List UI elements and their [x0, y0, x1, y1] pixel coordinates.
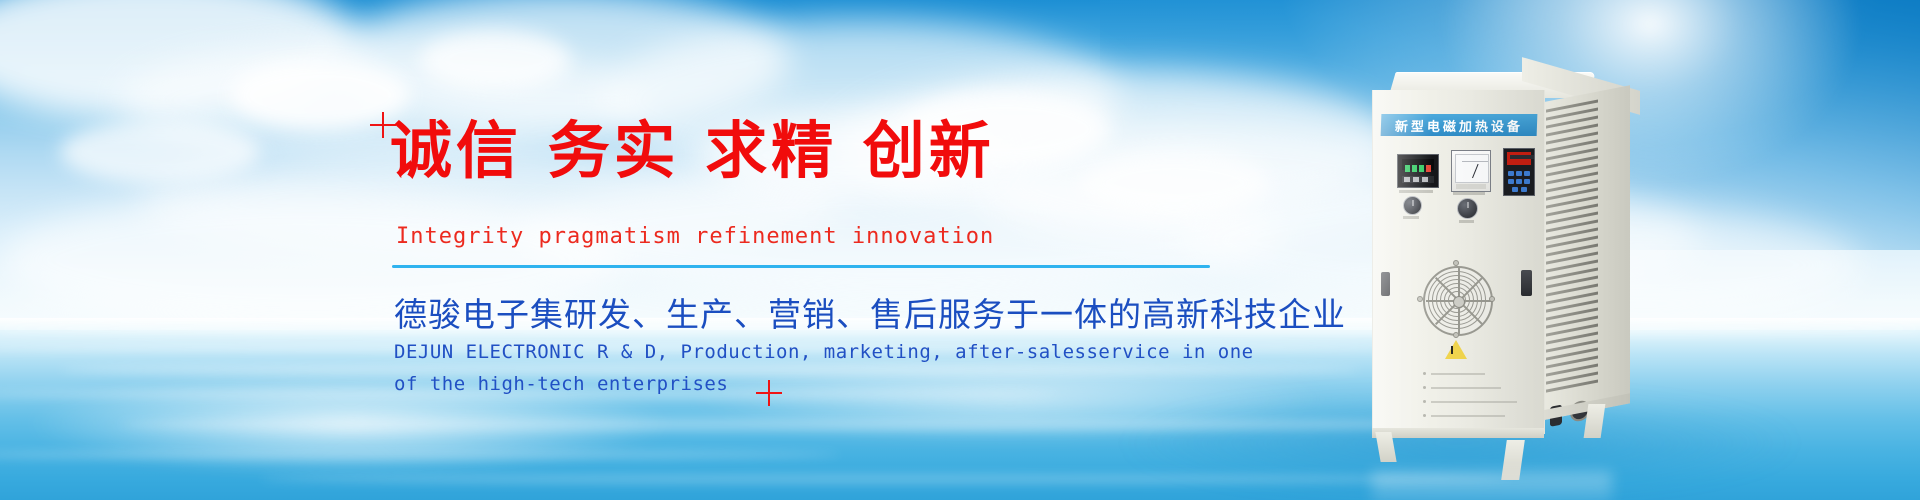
controller-button-row[interactable] [1402, 176, 1434, 183]
gauge-label-plate [1456, 184, 1486, 189]
product-machine: 新型电磁加热设备 [1372, 72, 1652, 472]
control-knob[interactable] [1403, 196, 1422, 215]
digital-temperature-controller[interactable] [1397, 154, 1439, 188]
gauge-face [1455, 154, 1489, 183]
cloud-puff [1080, 150, 1270, 216]
cooling-fan-grille [1423, 266, 1493, 336]
gauge-needle [1472, 164, 1479, 178]
description-english: DEJUN ELECTRONIC R & D, Production, mark… [394, 336, 1254, 400]
promotional-banner: 诚信 务实 求精 创新 Integrity pragmatism refinem… [0, 0, 1920, 500]
machine-base [1372, 428, 1544, 438]
machine-leg [1584, 404, 1606, 438]
controller-display [1402, 159, 1434, 170]
headline-chinese: 诚信 务实 求精 创新 [390, 120, 995, 182]
warning-triangle-icon [1445, 340, 1467, 359]
keypad-screen [1507, 152, 1531, 165]
keypad-display-panel[interactable] [1503, 148, 1535, 196]
product-badge-label: 新型电磁加热设备 [1395, 116, 1524, 135]
machine-reflection [1372, 472, 1612, 500]
machine-latch[interactable] [1521, 270, 1532, 296]
machine-front-panel: 新型电磁加热设备 [1372, 90, 1545, 434]
description-english-line-1: DEJUN ELECTRONIC R & D, Production, mark… [394, 336, 1254, 368]
headline-english: Integrity pragmatism refinement innovati… [396, 224, 994, 249]
control-knob[interactable] [1457, 198, 1478, 219]
description-chinese: 德骏电子集研发、生产、营销、售后服务于一体的高新科技企业 [394, 288, 1346, 336]
description-english-line-2: of the high-tech enterprises [394, 368, 1254, 400]
banner-copy: 诚信 务实 求精 创新 Integrity pragmatism refinem… [0, 0, 1100, 500]
divider-line [392, 265, 1210, 268]
machine-vent-group [1546, 97, 1600, 403]
machine-latch[interactable] [1381, 272, 1390, 296]
machine-side-panel [1544, 85, 1630, 420]
product-badge: 新型电磁加热设备 [1381, 114, 1538, 136]
analog-meter-gauge [1451, 150, 1491, 192]
